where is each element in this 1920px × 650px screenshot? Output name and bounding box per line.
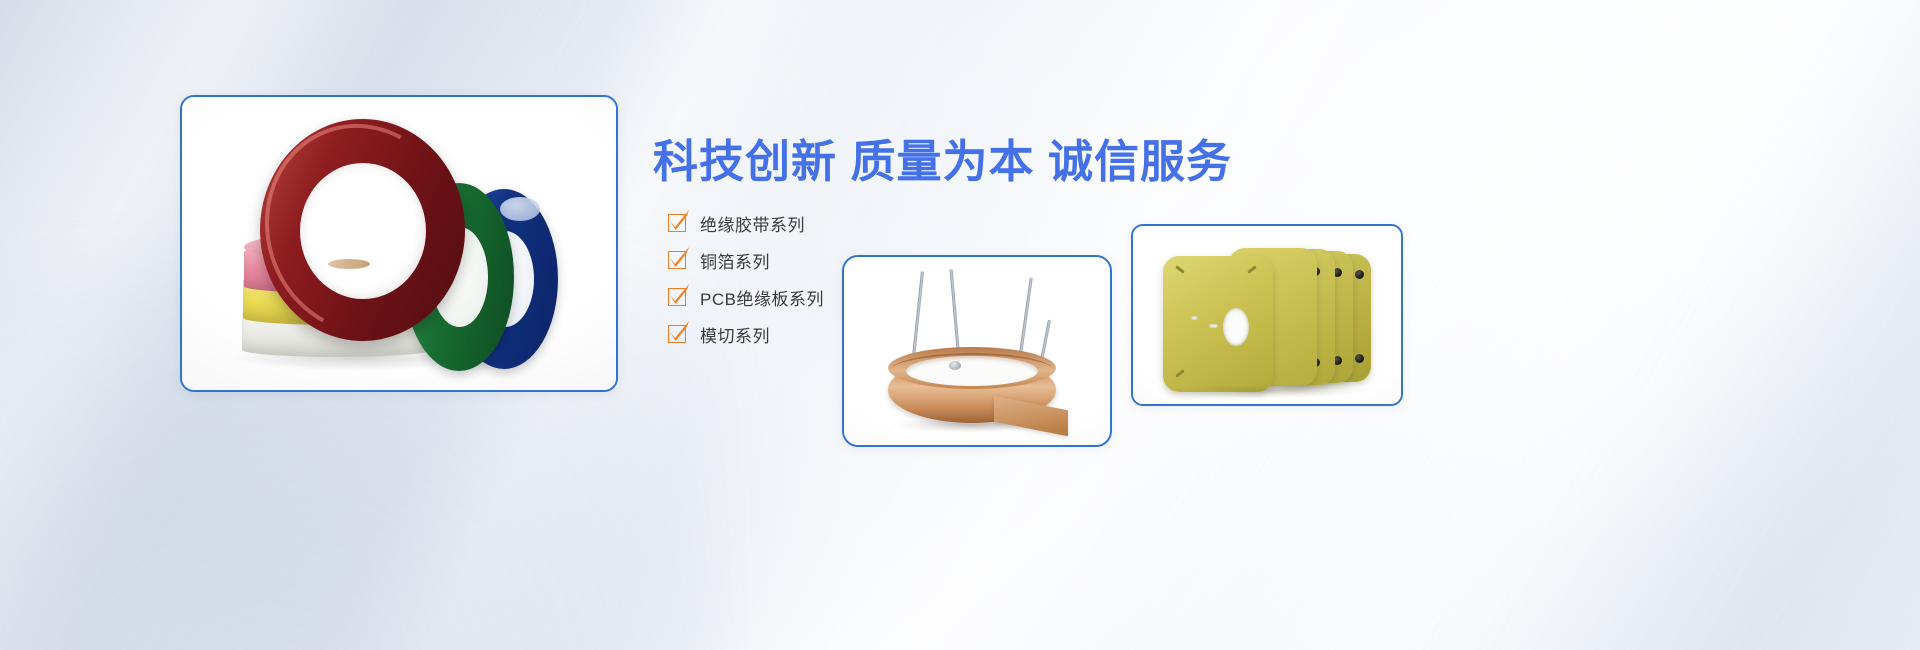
- check-box-icon: [668, 288, 686, 306]
- list-item[interactable]: 绝缘胶带系列: [668, 205, 824, 241]
- check-box-icon: [668, 325, 686, 343]
- pcb-front-board: [1163, 256, 1273, 392]
- tape-rolls-photo: [182, 97, 616, 390]
- list-item-label: 模切系列: [700, 322, 770, 347]
- check-box-icon: [668, 251, 686, 269]
- list-item-label: 绝缘胶带系列: [700, 211, 805, 236]
- check-box-icon: [668, 214, 686, 232]
- feature-list: 绝缘胶带系列 铜箔系列 PCB绝缘板系列 模切: [668, 205, 824, 353]
- product-card-pcb-boards[interactable]: [1131, 224, 1403, 406]
- pcb-boards-photo: [1133, 226, 1401, 404]
- page-title: 科技创新 质量为本 诚信服务: [653, 125, 1232, 190]
- product-card-tape-rolls[interactable]: [180, 95, 618, 392]
- list-item[interactable]: 模切系列: [668, 316, 824, 352]
- copper-foil-photo: [844, 257, 1110, 445]
- list-item[interactable]: 铜箔系列: [668, 242, 824, 278]
- list-item-label: 铜箔系列: [700, 248, 770, 273]
- list-item[interactable]: PCB绝缘板系列: [668, 279, 824, 315]
- list-item-label: PCB绝缘板系列: [700, 285, 824, 310]
- product-card-copper-foil[interactable]: [842, 255, 1112, 447]
- promo-banner: 科技创新 质量为本 诚信服务 绝缘胶带系列 铜箔系列: [0, 0, 1920, 650]
